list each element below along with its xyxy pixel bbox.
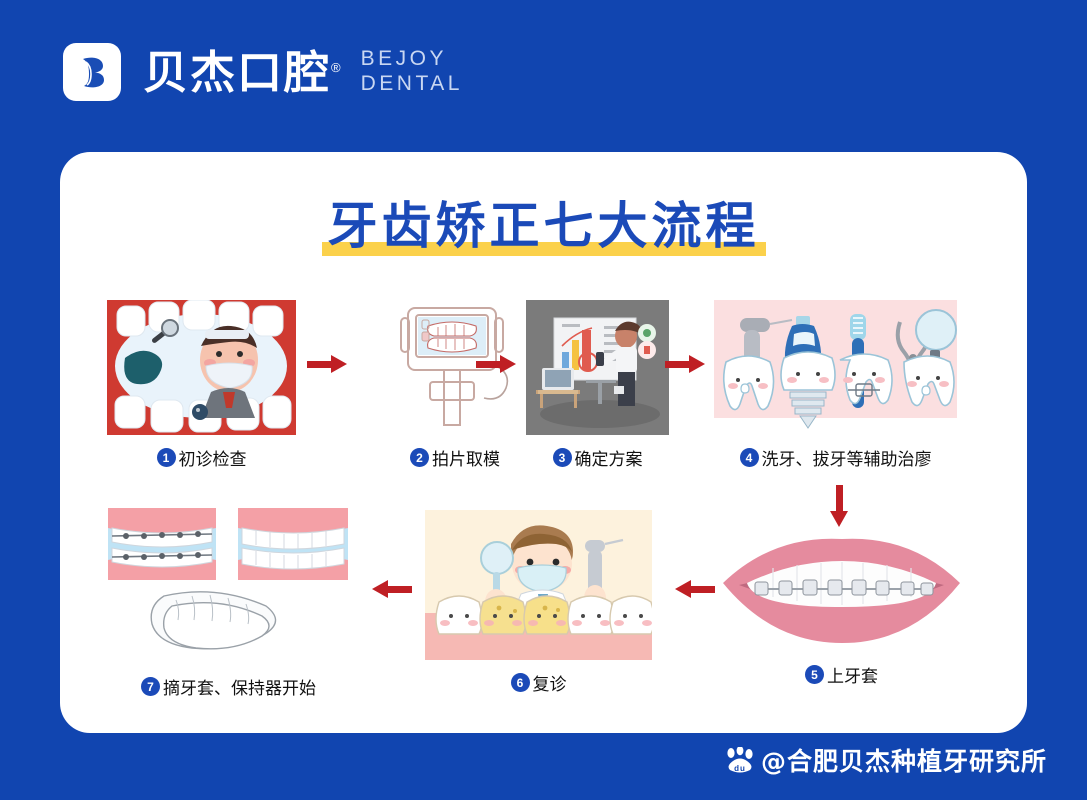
step-6-number: 6: [511, 673, 530, 692]
step-4-image: [714, 300, 957, 435]
step-6[interactable]: 6 复诊: [425, 510, 652, 695]
step-1-label: 初诊检查: [179, 445, 247, 470]
arrow-step6-to-step7: [370, 580, 412, 599]
arrow-step1-to-step2: [307, 355, 349, 374]
step-3-number: 3: [553, 448, 572, 467]
footer-handle: du @合肥贝杰种植牙研究所: [725, 742, 1047, 778]
step-3-caption: 3 确定方案: [526, 445, 669, 470]
step-2-caption: 2 拍片取模: [380, 445, 530, 470]
step-6-image: [425, 510, 652, 660]
baidu-paw-icon: du: [725, 747, 755, 773]
brand-logo-mark: [63, 43, 121, 101]
brand-header: 贝杰口腔® BEJOY DENTAL: [63, 43, 463, 101]
poster-root: 贝杰口腔® BEJOY DENTAL 牙齿矫正七大流程: [0, 0, 1087, 800]
step-7-number: 7: [141, 677, 160, 696]
arrow-step4-to-step5: [830, 485, 849, 527]
title-text: 牙齿矫正七大流程: [328, 197, 760, 255]
step-6-label: 复诊: [533, 670, 567, 695]
step-3-label: 确定方案: [575, 445, 643, 470]
step-1-number: 1: [157, 448, 176, 467]
step-7-image: [102, 504, 355, 664]
step-5-label: 上牙套: [827, 662, 878, 687]
step-3-image: [526, 300, 669, 435]
brand-name-en: BEJOY DENTAL: [361, 47, 463, 97]
step-5[interactable]: 5 上牙套: [715, 527, 968, 687]
step-2-label: 拍片取模: [432, 445, 500, 470]
registered-mark: ®: [331, 60, 343, 75]
step-1[interactable]: 1 初诊检查: [107, 300, 296, 470]
step-3[interactable]: 3 确定方案: [526, 300, 669, 470]
footer-handle-text: @合肥贝杰种植牙研究所: [761, 742, 1047, 778]
step-1-image: [107, 300, 296, 435]
step-4[interactable]: 4 洗牙、拔牙等辅助治廖: [714, 300, 957, 470]
page-title: 牙齿矫正七大流程: [60, 186, 1027, 258]
brand-name-cn-text: 贝杰口腔: [143, 47, 331, 98]
arrow-step3-to-step4: [665, 355, 707, 374]
arrow-step5-to-step6: [673, 580, 715, 599]
step-2[interactable]: 2 拍片取模: [380, 300, 530, 470]
step-1-caption: 1 初诊检查: [107, 445, 296, 470]
svg-text:du: du: [734, 764, 746, 773]
step-7[interactable]: 7 摘牙套、保持器开始: [102, 504, 355, 699]
brand-name-en-line1: BEJOY: [361, 47, 463, 72]
brand-name-en-line2: DENTAL: [361, 72, 463, 97]
step-7-label: 摘牙套、保持器开始: [163, 674, 316, 699]
step-5-image: [715, 527, 968, 652]
content-card: 牙齿矫正七大流程: [60, 152, 1027, 733]
step-4-number: 4: [740, 448, 759, 467]
step-4-label: 洗牙、拔牙等辅助治廖: [762, 445, 932, 470]
step-2-number: 2: [410, 448, 429, 467]
step-6-caption: 6 复诊: [425, 670, 652, 695]
brand-name-cn: 贝杰口腔®: [143, 50, 343, 95]
step-4-caption: 4 洗牙、拔牙等辅助治廖: [714, 445, 957, 470]
step-5-number: 5: [805, 665, 824, 684]
step-5-caption: 5 上牙套: [715, 662, 968, 687]
step-7-caption: 7 摘牙套、保持器开始: [102, 674, 355, 699]
arrow-step2-to-step3: [476, 355, 518, 374]
